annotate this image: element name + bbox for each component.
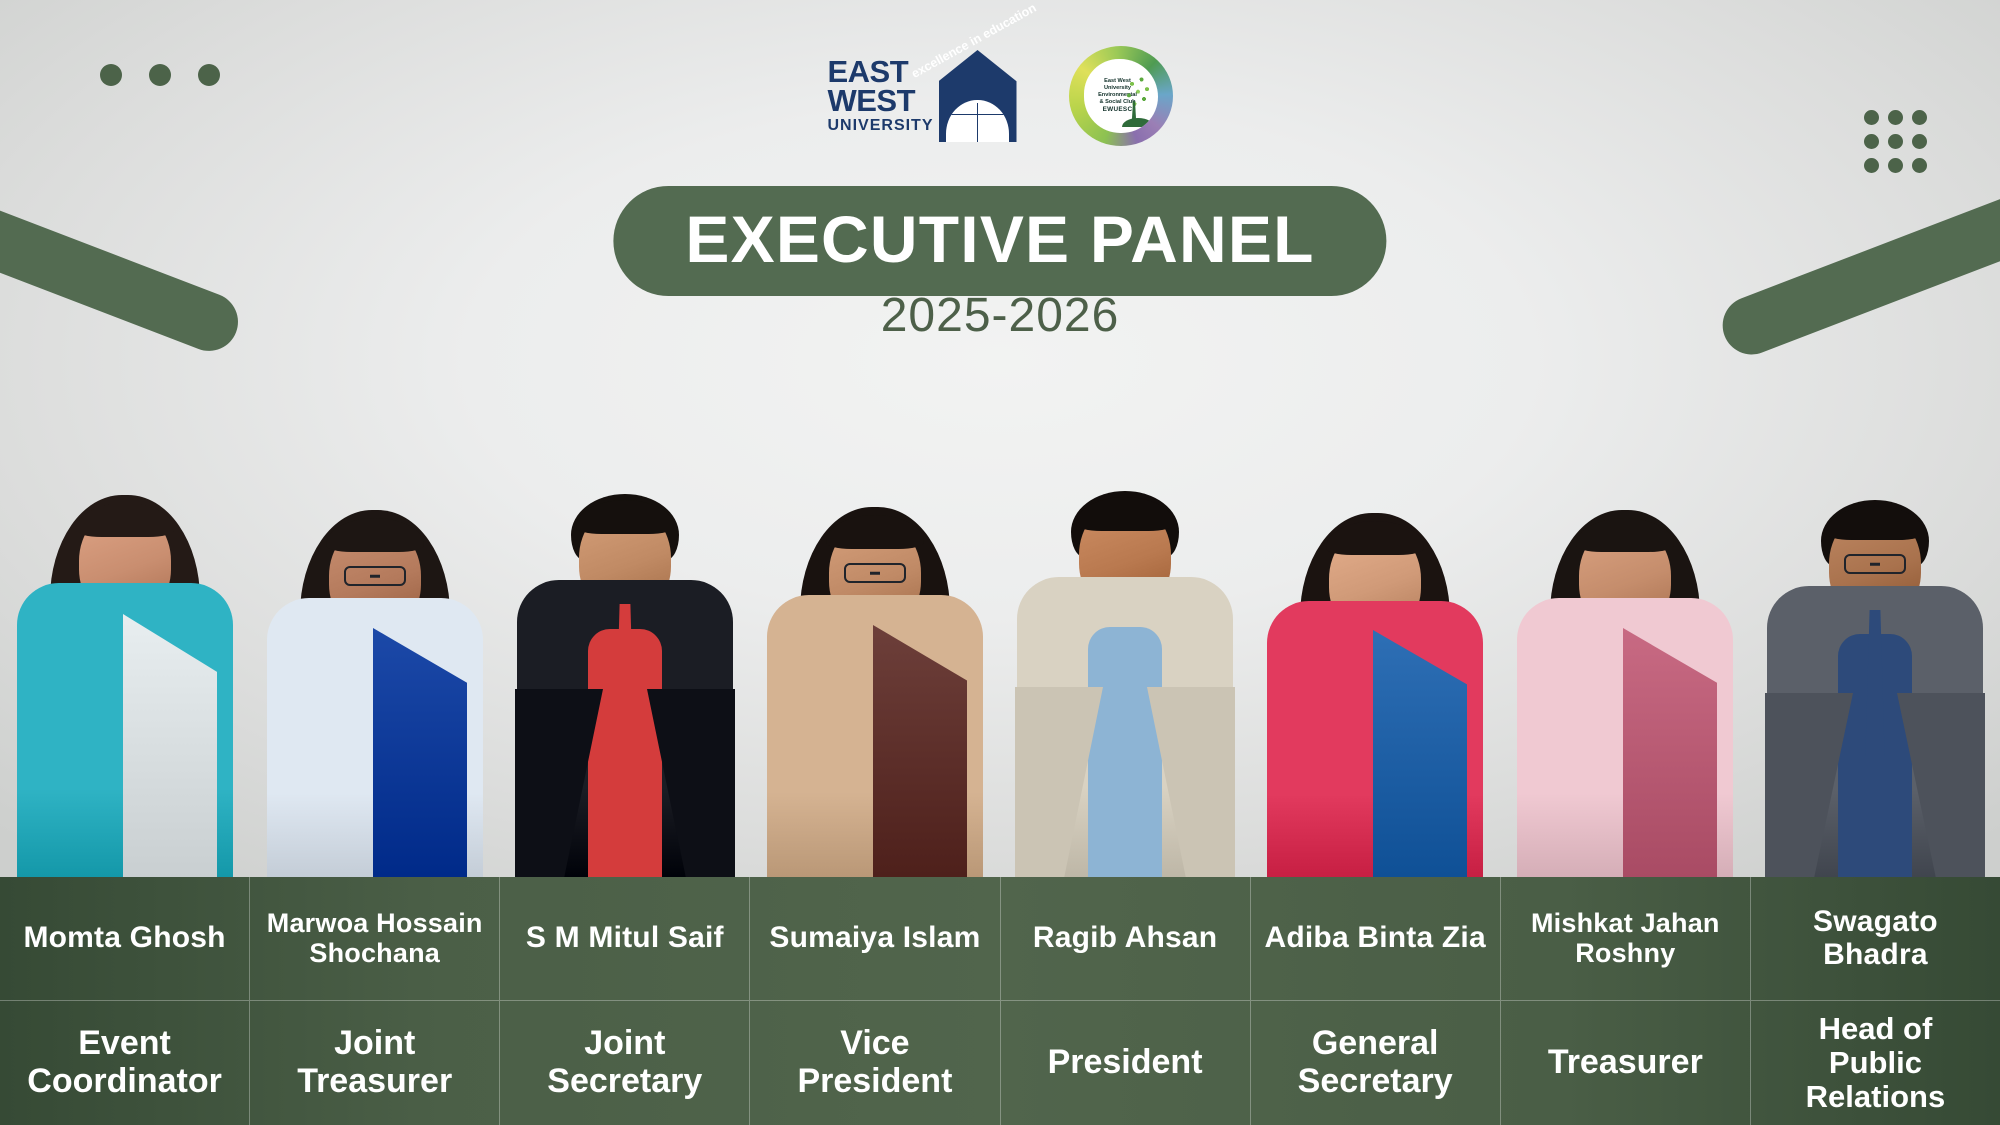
- member-name: S M Mitul Saif: [526, 921, 724, 955]
- member-glasses: [1844, 554, 1906, 574]
- member-name-cell: Mishkat Jahan Roshny: [1501, 877, 1751, 1000]
- tree-icon: [1123, 73, 1153, 127]
- member-figure: [1250, 237, 1500, 877]
- member-photo: [1750, 237, 2000, 877]
- member-role-cell: Head ofPublic Relations: [1751, 1001, 2000, 1125]
- member-name: Marwoa Hossain Shochana: [258, 908, 491, 968]
- member-name-cell: Momta Ghosh: [0, 877, 250, 1000]
- member-figure: [250, 237, 500, 877]
- university-name-line2: WEST: [827, 87, 933, 116]
- member-role: EventCoordinator: [27, 1025, 222, 1100]
- member-name-cell: Sumaiya Islam: [750, 877, 1000, 1000]
- member-figure: [1750, 237, 2000, 877]
- member-name-cell: Adiba Binta Zia: [1251, 877, 1501, 1000]
- member-role-line1: General: [1298, 1025, 1453, 1062]
- member-role: Treasurer: [1548, 1044, 1703, 1081]
- member-glasses: [844, 563, 906, 583]
- member-role-cell: President: [1001, 1001, 1251, 1125]
- east-west-university-logo: EAST WEST UNIVERSITY excellence in educa…: [827, 48, 1016, 144]
- member-names-row: Momta GhoshMarwoa Hossain ShochanaS M Mi…: [0, 877, 2000, 1000]
- member-role: President: [1048, 1044, 1203, 1081]
- member-role-cell: GeneralSecretary: [1251, 1001, 1501, 1125]
- member-name: Adiba Binta Zia: [1265, 921, 1486, 955]
- logo-row: EAST WEST UNIVERSITY excellence in educa…: [0, 42, 2000, 150]
- member-role-line2: Public Relations: [1759, 1046, 1992, 1114]
- member-role-line1: Head of: [1759, 1012, 1992, 1046]
- university-house-globe-icon: excellence in education: [939, 50, 1017, 142]
- member-role-cell: JointTreasurer: [250, 1001, 500, 1125]
- member-role: GeneralSecretary: [1298, 1025, 1453, 1100]
- member-role: Head ofPublic Relations: [1759, 1012, 1992, 1114]
- member-photo: [500, 237, 750, 877]
- club-logo-inner: East West University Environmental & Soc…: [1084, 59, 1158, 133]
- member-role-cell: JointSecretary: [500, 1001, 750, 1125]
- member-role-line2: Secretary: [547, 1063, 702, 1100]
- member-role-line2: President: [797, 1063, 952, 1100]
- member-role-line1: President: [1048, 1044, 1203, 1081]
- member-photo: [1250, 237, 1500, 877]
- member-shirt: [1088, 627, 1162, 877]
- member-role: VicePresident: [797, 1025, 952, 1100]
- decorative-dot: [1912, 158, 1927, 173]
- member-role-line1: Event: [27, 1025, 222, 1062]
- member-figure: [500, 237, 750, 877]
- member-info-table: Momta GhoshMarwoa Hossain ShochanaS M Mi…: [0, 877, 2000, 1125]
- member-role-line2: Coordinator: [27, 1063, 222, 1100]
- page-title: EXECUTIVE PANEL: [685, 206, 1314, 272]
- member-role-line1: Joint: [547, 1025, 702, 1062]
- member-name: Momta Ghosh: [23, 921, 225, 955]
- member-role-cell: Treasurer: [1501, 1001, 1751, 1125]
- member-role-line2: Treasurer: [297, 1063, 452, 1100]
- member-name: Sumaiya Islam: [769, 921, 980, 955]
- member-role-cell: VicePresident: [750, 1001, 1000, 1125]
- member-glasses: [344, 566, 406, 586]
- member-figure: [1500, 237, 1750, 877]
- member-role: JointSecretary: [547, 1025, 702, 1100]
- ewuesc-club-logo: East West University Environmental & Soc…: [1069, 46, 1173, 146]
- member-role-line1: Treasurer: [1548, 1044, 1703, 1081]
- member-name: Mishkat Jahan Roshny: [1509, 908, 1742, 968]
- member-photo: [250, 237, 500, 877]
- member-name-cell: Ragib Ahsan: [1001, 877, 1251, 1000]
- executive-panel-poster: EAST WEST UNIVERSITY excellence in educa…: [0, 0, 2000, 1125]
- decorative-dot: [1864, 158, 1879, 173]
- university-name-line3: UNIVERSITY: [827, 119, 933, 134]
- member-role-line1: Vice: [797, 1025, 952, 1062]
- member-name-cell: Swagato Bhadra: [1751, 877, 2000, 1000]
- member-photo: [1500, 237, 1750, 877]
- member-role-line1: Joint: [297, 1025, 452, 1062]
- member-name: Ragib Ahsan: [1033, 921, 1217, 955]
- member-name-cell: Marwoa Hossain Shochana: [250, 877, 500, 1000]
- member-photo: [0, 237, 250, 877]
- member-name: Swagato Bhadra: [1759, 905, 1992, 972]
- member-roles-row: EventCoordinatorJointTreasurerJointSecre…: [0, 1000, 2000, 1125]
- decorative-dot: [1888, 158, 1903, 173]
- page-title-pill: EXECUTIVE PANEL: [613, 186, 1386, 296]
- member-figure: [0, 237, 250, 877]
- tree-ground: [1122, 118, 1154, 127]
- member-name-cell: S M Mitul Saif: [500, 877, 750, 1000]
- page-subtitle-year: 2025-2026: [881, 288, 1120, 343]
- member-role-cell: EventCoordinator: [0, 1001, 250, 1125]
- tree-canopy: [1123, 73, 1153, 109]
- member-role-line2: Secretary: [1298, 1063, 1453, 1100]
- member-role: JointTreasurer: [297, 1025, 452, 1100]
